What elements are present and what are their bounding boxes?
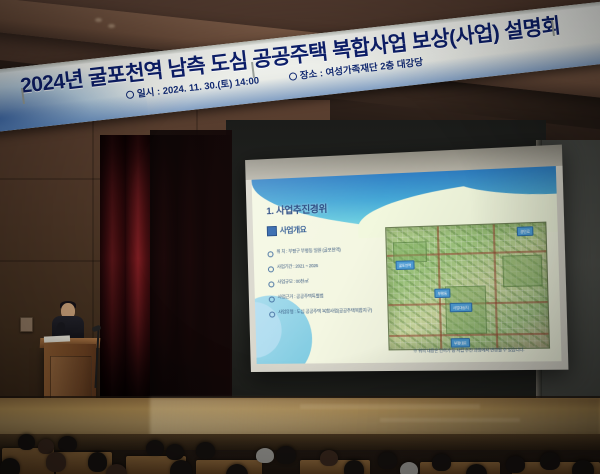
audience-head <box>146 440 164 456</box>
ceiling-light-spot <box>108 24 115 28</box>
circle-bullet-icon <box>268 281 274 287</box>
audience-head <box>256 448 274 463</box>
circle-bullet-icon <box>268 266 274 272</box>
list-item: 사업유형 : 도심 공공주택 복합사업(공공주택복합지구) <box>269 307 392 317</box>
square-bullet-icon <box>267 225 277 235</box>
map-label: 굴포천역 <box>395 260 414 270</box>
audience-head <box>432 454 451 471</box>
audience-head <box>400 462 418 474</box>
audience-head <box>18 434 35 450</box>
audience-head <box>58 436 77 452</box>
audience-head <box>276 446 296 464</box>
audience-head <box>88 452 107 472</box>
audience-head <box>572 460 594 474</box>
list-item: 위 치 : 부평구 부평동 일원 (굴포천역) <box>267 246 390 258</box>
slide-subheading: 사업개요 <box>267 224 307 236</box>
projection-screen: 1. 사업추진경위 사업개요 위 치 : 부평구 부평동 일원 (굴포천역) 사… <box>245 145 568 372</box>
map-label: 사업대상지 <box>450 303 472 313</box>
list-item-label: 위 치 : 부평구 부평동 일원 (굴포천역) <box>276 247 340 255</box>
audience-head <box>344 460 364 474</box>
stage-floor-highlight <box>380 418 520 422</box>
list-item-label: 사업규모 : 00천㎡ <box>277 278 308 284</box>
audience-area <box>0 430 600 474</box>
diamond-bullet-icon <box>289 73 298 82</box>
ceiling-light-spot <box>95 18 102 22</box>
audience-head <box>170 460 192 474</box>
circle-bullet-icon <box>269 296 275 302</box>
slide-title: 1. 사업추진경위 <box>266 201 327 217</box>
map-road <box>493 224 499 348</box>
presentation-slide: 1. 사업추진경위 사업개요 위 치 : 부평구 부평동 일원 (굴포천역) 사… <box>252 166 562 364</box>
site-aerial-map: 굴포천역 부평동 사업대상지 부평대로 경인로 <box>385 222 550 351</box>
slide-bullet-list: 위 치 : 부평구 부평동 일원 (굴포천역) 사업기간 : 2021 ~ 20… <box>267 246 392 325</box>
map-label: 부평동 <box>434 288 450 298</box>
list-item: 사업기간 : 2021 ~ 2026 <box>268 261 391 273</box>
diamond-bullet-icon <box>126 91 135 100</box>
audience-head <box>106 464 127 474</box>
auditorium-photo: 1. 사업추진경위 사업개요 위 치 : 부평구 부평동 일원 (굴포천역) 사… <box>0 0 600 474</box>
audience-head <box>378 452 397 469</box>
audience-head <box>166 444 184 460</box>
map-parcel <box>502 255 542 288</box>
audience-head <box>540 452 560 470</box>
audience-head <box>506 456 525 473</box>
slide-footnote: ※ 위의 내용은 인허가 등 사업 추진 과정에서 변경될 수 있습니다. <box>389 346 551 354</box>
slide-subheading-label: 사업개요 <box>280 224 307 236</box>
audience-head <box>196 442 215 459</box>
audience-head <box>0 458 20 474</box>
map-label: 부평대로 <box>451 338 470 348</box>
list-item-label: 사업근거 : 공공주택특별법 <box>278 293 324 300</box>
map-label: 경인로 <box>517 226 534 236</box>
circle-bullet-icon <box>269 311 275 317</box>
circle-bullet-icon <box>267 251 273 257</box>
list-item: 사업규모 : 00천㎡ <box>268 276 391 287</box>
wall-switch-plate[interactable] <box>20 317 33 332</box>
list-item: 사업근거 : 공공주택특별법 <box>269 292 392 303</box>
list-item-label: 사업유형 : 도심 공공주택 복합사업(공공주택복합지구) <box>278 308 372 315</box>
audience-head <box>320 450 338 466</box>
stage-floor-highlight <box>300 404 480 409</box>
stage-curtain-shadow <box>150 130 232 415</box>
list-item-label: 사업기간 : 2021 ~ 2026 <box>277 263 318 270</box>
audience-head <box>46 452 66 472</box>
